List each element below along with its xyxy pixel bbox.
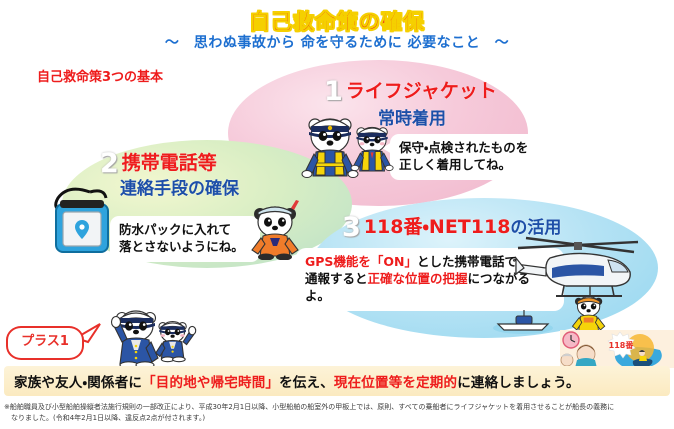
mascot-officer-pair-illustration (98, 306, 204, 368)
section-2-bubble-line-2: 落とさないようにね。 (119, 239, 251, 256)
section-2-bubble: 防水パックに入れて 落とさないようにね。 (110, 216, 260, 262)
section-2-bubble-line-1: 防水パックに入れて (119, 222, 251, 239)
section-1-heading: 1ライフジャケット (324, 76, 497, 107)
waterproof-phone-pouch-illustration (44, 182, 130, 256)
patrol-boat-illustration (488, 306, 558, 336)
section-1-heading-red: ライフジャケット (346, 80, 497, 102)
footnote: ※船舶職員及び小型船舶操縦者法施行規則の一部改正により、平成30年2月1日以降、… (4, 402, 668, 424)
mascot-captain-pair-illustration (294, 108, 402, 180)
basics-label: 自己救命策3つの基本 (37, 66, 163, 85)
section-1-bubble: 保守・点検されたものを 正しく着用してね。 (390, 134, 566, 180)
section-2-number: 2 (100, 148, 119, 179)
section-1-number: 1 (324, 76, 343, 107)
section-1-bubble-line-2: 正しく着用してね。 (399, 157, 557, 174)
poster-root: 自己救命策の確保 ～ 思わぬ事故から 命を守るために 必要なこと ～ 自己救命策… (0, 0, 674, 429)
section-2-subheading: 連絡手段の確保 (120, 174, 239, 199)
section-1-bubble-line-1: 保守・点検されたものを (399, 140, 557, 157)
badge-118-label: 118番 (609, 340, 635, 350)
page-subtitle: ～ 思わぬ事故から 命を守るために 必要なこと ～ (0, 32, 674, 52)
bottom-banner-text: 家族や友人・関係者に「目的地や帰宅時間」を伝え、現在位置等を定期的に連絡しましょ… (14, 371, 580, 391)
section-2-heading-red: 携帯電話等 (122, 152, 217, 174)
plus1-badge: プラス1 (6, 326, 84, 360)
footnote-line-2: なりました。(令和4年2月1日以降、違反点2点が付されます。) (4, 413, 668, 424)
section-3-number: 3 (342, 212, 361, 243)
section-3-heading-red: 118番・NET118 (364, 216, 511, 238)
family-118-scene-illustration: 118番 (560, 330, 674, 368)
footnote-line-1: ※船舶職員及び小型船舶操縦者法施行規則の一部改正により、平成30年2月1日以降、… (4, 402, 668, 413)
